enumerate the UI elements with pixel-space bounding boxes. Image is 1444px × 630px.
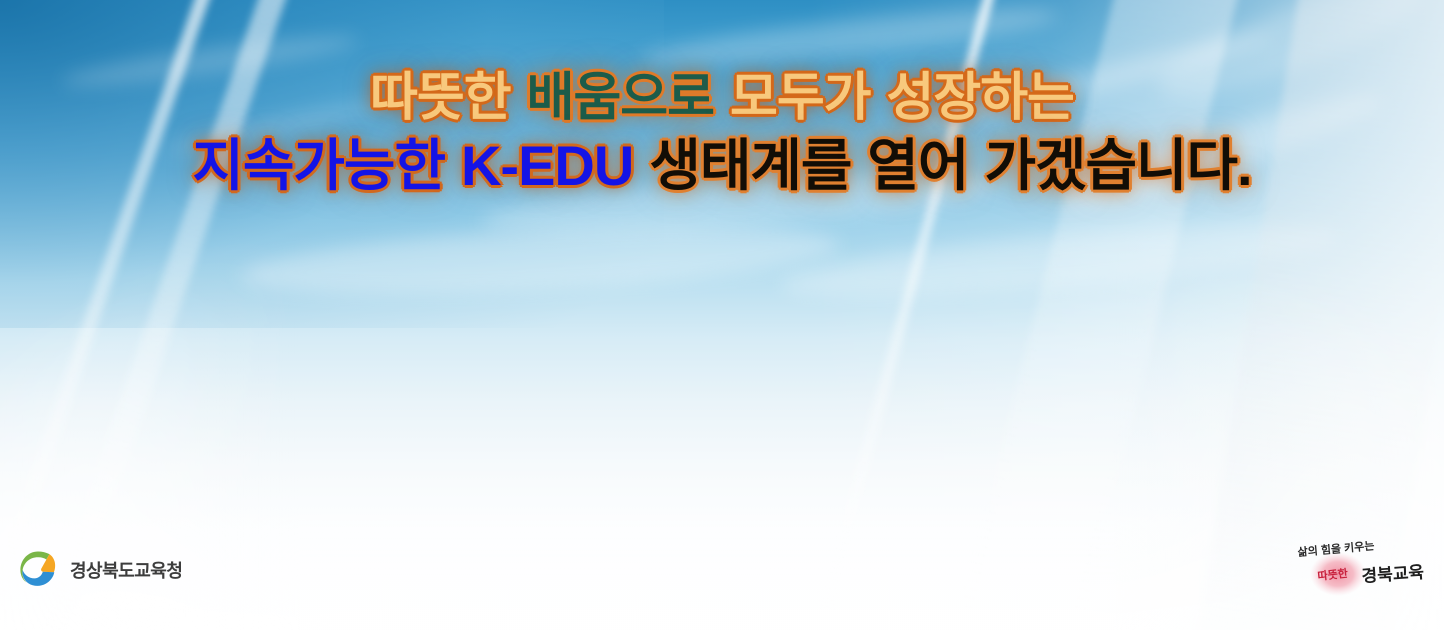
gyeongbuk-education-circle-logo-icon xyxy=(16,548,60,592)
headline-seg-warm: 따뜻한 xyxy=(370,69,511,127)
organization-logo[interactable]: 경상북도교육청 xyxy=(16,548,182,592)
headline-seg-commit: 가겠습니다. xyxy=(984,134,1251,197)
slogan-line-2: 경북교육 xyxy=(1361,563,1425,586)
headline-seg-kedu: K-EDU xyxy=(461,134,633,197)
headline-line-2: 지속가능한K-EDU생태계를열어가겠습니다. xyxy=(0,138,1444,194)
headline-seg-sustainable: 지속가능한 xyxy=(192,134,445,197)
headline-slogan: 따뜻한배움으로모두가성장하는 지속가능한K-EDU생태계를열어가겠습니다. xyxy=(0,72,1444,194)
headline-seg-growing: 성장하는 xyxy=(887,69,1074,127)
campus-photograph xyxy=(0,230,1444,630)
headline-line-1: 따뜻한배움으로모두가성장하는 xyxy=(0,72,1444,124)
headline-seg-ecosystem: 생태계를 xyxy=(649,134,851,197)
headline-seg-learning: 배움으로 xyxy=(527,69,714,127)
education-hero-banner: 따뜻한배움으로모두가성장하는 지속가능한K-EDU생태계를열어가겠습니다. 경상… xyxy=(0,0,1444,630)
slogan-stamp-logo[interactable]: 삶의 힘을 키우는 따뜻한 경북교육 xyxy=(1276,534,1436,598)
headline-seg-open: 열어 xyxy=(867,134,968,197)
organization-logo-label: 경상북도교육청 xyxy=(70,557,182,583)
headline-seg-everyone: 모두가 xyxy=(730,69,871,127)
